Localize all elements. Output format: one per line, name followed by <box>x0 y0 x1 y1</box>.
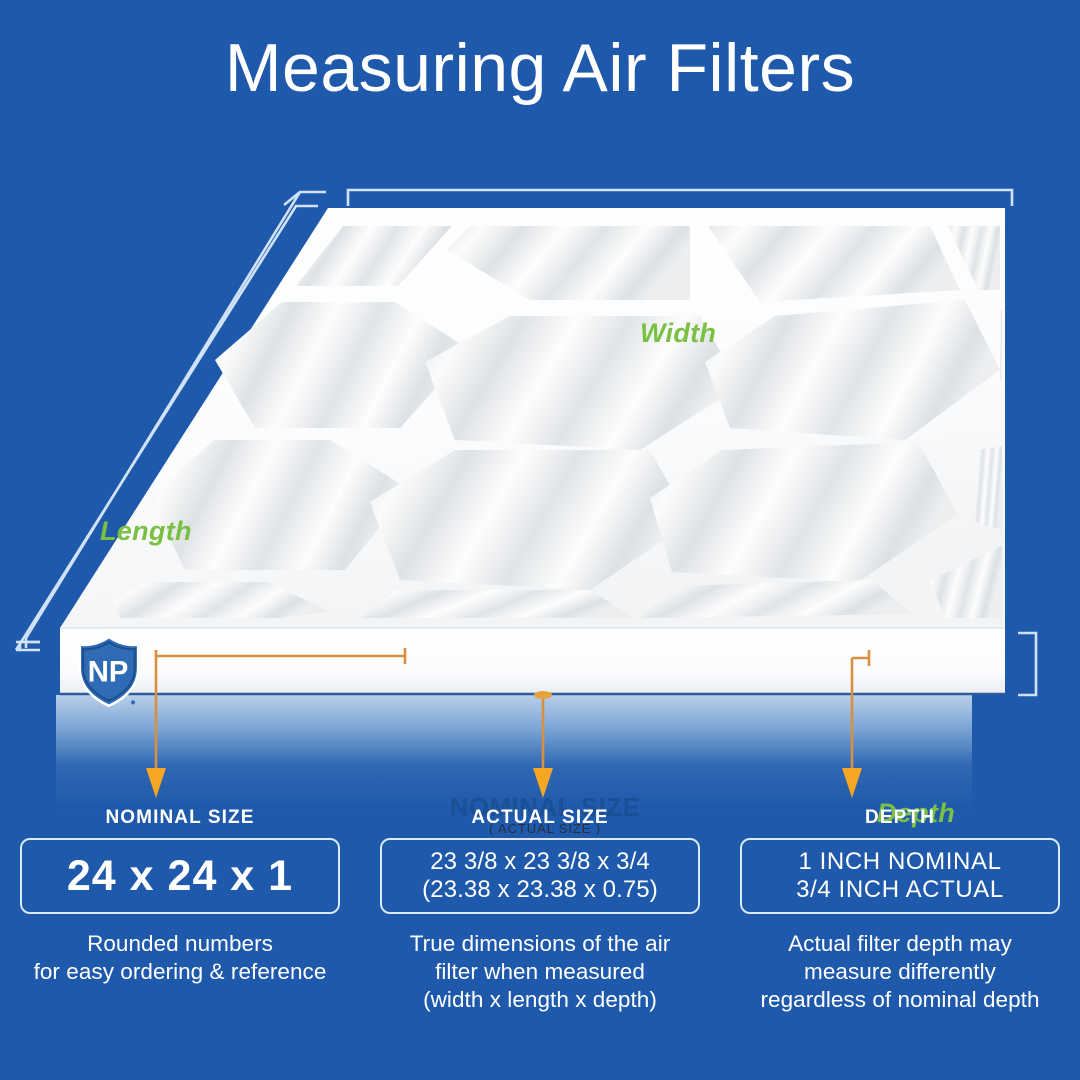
filter-svg: NP <box>0 150 1080 810</box>
card-value-box: 1 INCH NOMINAL 3/4 INCH ACTUAL <box>740 838 1060 914</box>
card-caption-line: Actual filter depth may <box>734 930 1066 958</box>
card-caption-line: measure differently <box>734 958 1066 986</box>
card-caption-line: filter when measured <box>374 958 706 986</box>
card-heading: NOMINAL SIZE <box>14 808 346 827</box>
card-caption: Actual filter depth may measure differen… <box>734 930 1066 1014</box>
card-actual-size: ACTUAL SIZE 23 3/8 x 23 3/8 x 3/4 (23.38… <box>360 808 720 1080</box>
explanation-cards: NOMINAL SIZE 24 x 24 x 1 Rounded numbers… <box>0 808 1080 1080</box>
card-heading: ACTUAL SIZE <box>374 808 706 827</box>
infographic-root: Measuring Air Filters <box>0 0 1080 1080</box>
card-value-line: 24 x 24 x 1 <box>67 855 293 898</box>
card-caption-line: (width x length x depth) <box>374 986 706 1014</box>
page-title: Measuring Air Filters <box>0 34 1080 102</box>
card-heading: DEPTH <box>734 808 1066 827</box>
card-caption-line: True dimensions of the air <box>374 930 706 958</box>
actual-size-callout-cap <box>534 691 552 699</box>
card-nominal-size: NOMINAL SIZE 24 x 24 x 1 Rounded numbers… <box>0 808 360 1080</box>
card-value-box: 24 x 24 x 1 <box>20 838 340 914</box>
air-filter-illustration: NP Width Length Depth NOMINAL SIZE ( ACT… <box>0 150 1080 810</box>
card-caption-line: for easy ordering & reference <box>14 958 346 986</box>
width-label: Width <box>640 318 716 349</box>
card-value-line: (23.38 x 23.38 x 0.75) <box>422 876 658 904</box>
card-caption: True dimensions of the air filter when m… <box>374 930 706 1014</box>
card-caption-line: regardless of nominal depth <box>734 986 1066 1014</box>
card-caption: Rounded numbers for easy ordering & refe… <box>14 930 346 986</box>
card-caption-line: Rounded numbers <box>14 930 346 958</box>
card-value-line: 23 3/8 x 23 3/8 x 3/4 <box>430 848 650 876</box>
length-label: Length <box>100 516 192 547</box>
card-value-line: 1 INCH NOMINAL <box>798 848 1001 876</box>
filter-front-frame <box>60 628 1005 695</box>
card-value-box: 23 3/8 x 23 3/8 x 3/4 (23.38 x 23.38 x 0… <box>380 838 700 914</box>
svg-text:NP: NP <box>88 657 129 689</box>
width-bracket <box>348 190 1012 206</box>
card-value-line: 3/4 INCH ACTUAL <box>796 876 1004 904</box>
depth-bracket <box>1018 633 1036 695</box>
card-depth: DEPTH 1 INCH NOMINAL 3/4 INCH ACTUAL Act… <box>720 808 1080 1080</box>
